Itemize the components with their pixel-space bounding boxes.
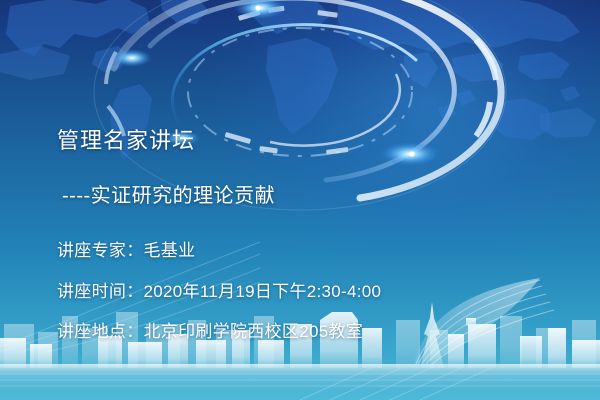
page-subtitle: ----实证研究的理论贡献 xyxy=(62,184,275,208)
page-title: 管理名家讲坛 xyxy=(57,128,195,154)
lecture-poster-banner: 管理名家讲坛 ----实证研究的理论贡献 讲座专家：毛基业 讲座时间：2020年… xyxy=(0,0,600,400)
poster-text-content: 管理名家讲坛 ----实证研究的理论贡献 讲座专家：毛基业 讲座时间：2020年… xyxy=(0,0,600,400)
detail-time: 讲座时间：2020年11月19日下午2:30-4:00 xyxy=(57,281,381,303)
detail-location: 讲座地点：北京印刷学院西校区205教室 xyxy=(57,321,363,343)
detail-speaker: 讲座专家：毛基业 xyxy=(57,240,195,262)
